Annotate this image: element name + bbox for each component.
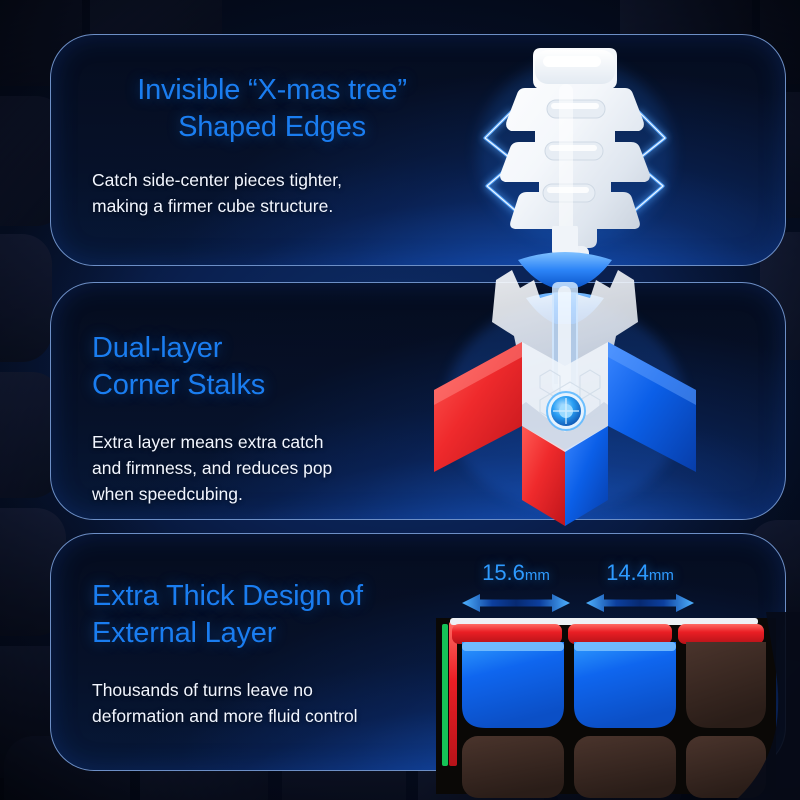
dimension-unit-0: mm: [525, 567, 550, 584]
dimension-label-0: 15.6mm: [462, 562, 570, 584]
panel-1-headline: Invisible “X-mas tree” Shaped Edges: [92, 72, 452, 146]
feature-copy-xmas-tree-edges: Invisible “X-mas tree” Shaped Edges Catc…: [92, 72, 452, 220]
infographic-stage: Invisible “X-mas tree” Shaped Edges Catc…: [0, 0, 800, 800]
panel-3-headline: Extra Thick Design of External Layer: [92, 578, 452, 652]
dimension-unit-1: mm: [649, 567, 674, 584]
panel-2-subcopy: Extra layer means extra catch and firmne…: [92, 430, 432, 508]
feature-copy-extra-thick-external-layer: Extra Thick Design of External Layer Tho…: [92, 578, 452, 730]
panel-3-subcopy: Thousands of turns leave no deformation …: [92, 678, 452, 730]
dimension-callouts: 15.6mm 14.4mm: [462, 562, 694, 630]
feature-copy-dual-layer-corner-stalks: Dual-layer Corner Stalks Extra layer mea…: [92, 330, 432, 508]
dimension-callout-0: 15.6mm: [462, 562, 570, 619]
dimension-value-0: 15.6: [482, 560, 525, 585]
dimension-label-1: 14.4mm: [586, 562, 694, 584]
dimension-arrow-0: [462, 592, 570, 614]
dimension-value-1: 14.4: [606, 560, 649, 585]
panel-1-subcopy: Catch side-center pieces tighter, making…: [92, 168, 452, 220]
panel-2-headline: Dual-layer Corner Stalks: [92, 330, 432, 404]
dimension-arrow-1: [586, 592, 694, 614]
dimension-callout-1: 14.4mm: [586, 562, 694, 619]
